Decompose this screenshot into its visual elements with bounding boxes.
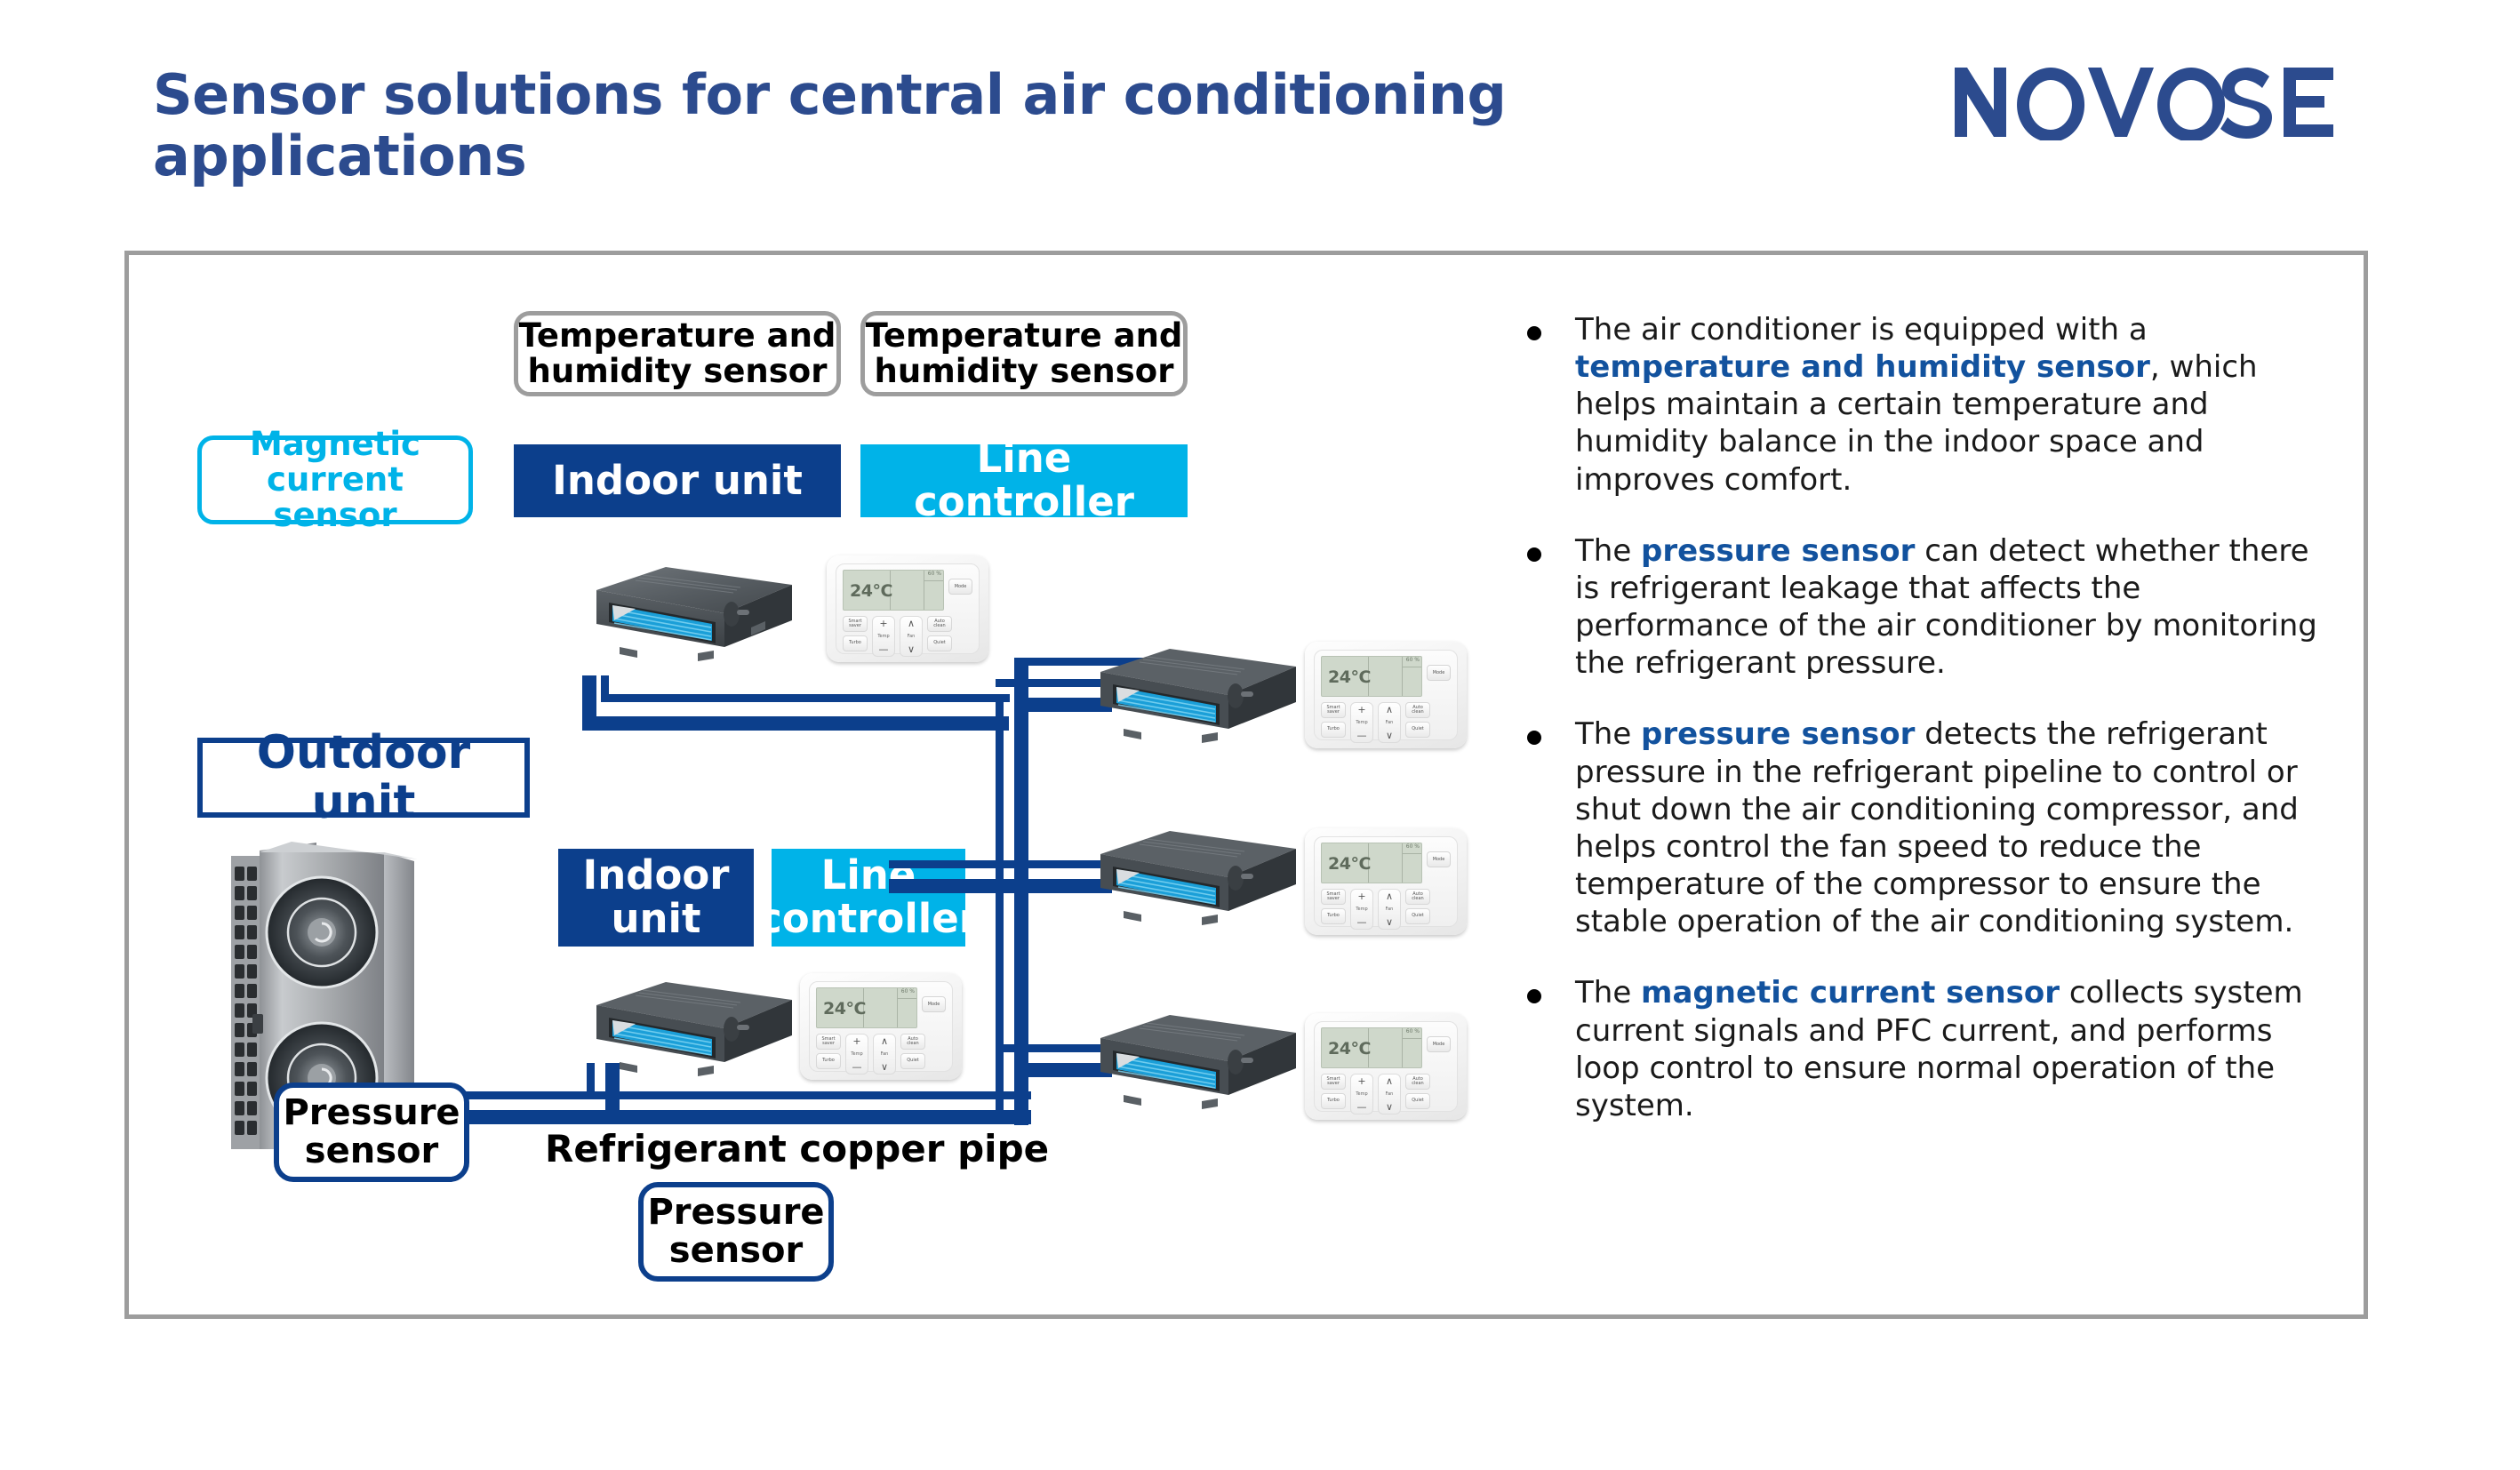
label-text: Temperature and humidity sensor xyxy=(865,318,1183,389)
fan-stepper[interactable]: ∧ Fan ∨ xyxy=(1378,702,1401,743)
page-title: Sensor solutions for central air conditi… xyxy=(153,64,1540,188)
list-item: The air conditioner is equipped with a t… xyxy=(1527,311,2327,499)
bullet-text: The magnetic current sensor collects sys… xyxy=(1575,974,2327,1124)
line-controller-device[interactable]: 24°C 60 % Mode Smart saver Turbo + Temp … xyxy=(1305,1013,1467,1120)
quiet-button[interactable]: Quiet xyxy=(1405,722,1430,738)
controller-temperature: 24°C xyxy=(1328,1039,1371,1059)
temp-up-icon[interactable]: + xyxy=(1357,705,1365,715)
temp-label: Temp xyxy=(1356,907,1367,912)
chevron-up-icon[interactable]: ∧ xyxy=(908,619,915,628)
smart-saver-button[interactable]: Smart saver xyxy=(1321,702,1346,718)
quiet-button[interactable]: Quiet xyxy=(900,1053,925,1069)
label-temp-humidity-sensor-2: Temperature and humidity sensor xyxy=(860,311,1188,396)
fan-label: Fan xyxy=(881,1051,889,1057)
controller-lcd: 24°C 60 % xyxy=(1321,843,1422,883)
bullet-text: The pressure sensor can detect whether t… xyxy=(1575,532,2327,683)
novosense-wordmark-icon xyxy=(1953,64,2371,140)
fan-stepper[interactable]: ∧ Fan ∨ xyxy=(1378,889,1401,930)
label-text: Indoor unit xyxy=(558,854,754,940)
pipe-segment xyxy=(601,675,609,699)
temp-label: Temp xyxy=(1356,720,1367,725)
chevron-down-icon[interactable]: ∨ xyxy=(908,644,915,654)
label-pressure-sensor-left: Pressure sensor xyxy=(274,1083,469,1182)
controller-humidity: 60 % xyxy=(901,988,915,995)
temp-stepper[interactable]: + Temp — xyxy=(872,616,895,657)
smart-saver-button[interactable]: Smart saver xyxy=(843,616,868,632)
label-indoor-unit-top: Indoor unit xyxy=(514,444,841,517)
chevron-up-icon[interactable]: ∧ xyxy=(1386,705,1393,715)
list-item: The pressure sensor can detect whether t… xyxy=(1527,532,2327,683)
list-item: The pressure sensor detects the refriger… xyxy=(1527,715,2327,940)
temp-stepper[interactable]: + Temp — xyxy=(1350,702,1373,743)
pipe-segment xyxy=(582,716,1009,731)
auto-clean-button[interactable]: Auto clean xyxy=(1405,702,1430,718)
label-magnetic-current-sensor: Magnetic current sensor xyxy=(197,435,473,524)
chevron-up-icon[interactable]: ∧ xyxy=(1386,1076,1393,1086)
indoor-unit-graphic xyxy=(573,558,796,663)
fan-label: Fan xyxy=(908,634,916,639)
indoor-unit-graphic xyxy=(1077,640,1300,745)
auto-clean-button[interactable]: Auto clean xyxy=(927,616,952,632)
list-item: The magnetic current sensor collects sys… xyxy=(1527,974,2327,1124)
temp-label: Temp xyxy=(851,1051,862,1057)
controller-temperature: 24°C xyxy=(850,581,892,601)
label-pressure-sensor-bottom: Pressure sensor xyxy=(638,1182,834,1282)
label-text: Refrigerant copper pipe xyxy=(545,1127,1049,1170)
line-controller-device[interactable]: 24°C 60 % Mode Smart saver Turbo + Temp … xyxy=(827,555,988,662)
temp-down-icon[interactable]: — xyxy=(879,644,889,654)
label-text: Outdoor unit xyxy=(203,728,524,827)
mode-button[interactable]: Mode xyxy=(1427,1036,1451,1052)
temp-label: Temp xyxy=(1356,1091,1367,1097)
pipe-segment xyxy=(601,694,1010,702)
indoor-unit-graphic xyxy=(1077,1006,1300,1111)
temp-stepper[interactable]: + Temp — xyxy=(1350,889,1373,930)
quiet-button[interactable]: Quiet xyxy=(1405,1093,1430,1109)
auto-clean-button[interactable]: Auto clean xyxy=(1405,889,1430,905)
chevron-up-icon[interactable]: ∧ xyxy=(881,1036,888,1046)
temp-stepper[interactable]: + Temp — xyxy=(1350,1074,1373,1114)
pipe-segment xyxy=(462,1110,1031,1124)
temp-down-icon[interactable]: — xyxy=(1357,1102,1367,1112)
chevron-down-icon[interactable]: ∨ xyxy=(1386,1102,1393,1112)
pipe-segment xyxy=(462,1091,1031,1099)
bullet-dot-icon xyxy=(1527,731,1541,745)
line-controller-device[interactable]: 24°C 60 % Mode Smart saver Turbo + Temp … xyxy=(1305,828,1467,935)
smart-saver-button[interactable]: Smart saver xyxy=(1321,1074,1346,1090)
controller-lcd: 24°C 60 % xyxy=(1321,656,1422,697)
controller-lcd: 24°C 60 % xyxy=(816,987,917,1028)
controller-humidity: 60 % xyxy=(1406,843,1420,850)
mode-button[interactable]: Mode xyxy=(1427,851,1451,867)
indoor-unit-graphic xyxy=(1077,822,1300,927)
controller-humidity: 60 % xyxy=(1406,1028,1420,1035)
fan-label: Fan xyxy=(1386,720,1394,725)
controller-lcd: 24°C 60 % xyxy=(1321,1027,1422,1068)
turbo-button[interactable]: Turbo xyxy=(843,635,868,651)
controller-temperature: 24°C xyxy=(823,999,866,1019)
mode-button[interactable]: Mode xyxy=(1427,665,1451,681)
controller-lcd: 24°C 60 % xyxy=(843,570,944,611)
temp-down-icon[interactable]: — xyxy=(1357,917,1367,927)
label-text: Magnetic current sensor xyxy=(202,427,468,533)
auto-clean-button[interactable]: Auto clean xyxy=(1405,1074,1430,1090)
temp-up-icon[interactable]: + xyxy=(879,619,887,628)
turbo-button[interactable]: Turbo xyxy=(1321,1093,1346,1109)
novosense-logo: NOVOSENSE xyxy=(1953,64,2371,140)
pipe-branch xyxy=(889,860,1004,868)
fan-stepper[interactable]: ∧ Fan ∨ xyxy=(873,1034,896,1075)
label-text: Line controller xyxy=(860,437,1188,523)
fan-stepper[interactable]: ∧ Fan ∨ xyxy=(900,616,923,657)
turbo-button[interactable]: Turbo xyxy=(816,1053,841,1069)
turbo-button[interactable]: Turbo xyxy=(1321,722,1346,738)
temp-down-icon[interactable]: — xyxy=(852,1062,862,1072)
line-controller-device[interactable]: 24°C 60 % Mode Smart saver Turbo + Temp … xyxy=(1305,642,1467,748)
chevron-down-icon[interactable]: ∨ xyxy=(1386,731,1393,740)
label-temp-humidity-sensor-1: Temperature and humidity sensor xyxy=(514,311,841,396)
temp-stepper[interactable]: + Temp — xyxy=(845,1034,868,1075)
bullet-text: The air conditioner is equipped with a t… xyxy=(1575,311,2327,499)
temp-down-icon[interactable]: — xyxy=(1357,731,1367,740)
mode-button[interactable]: Mode xyxy=(948,579,972,595)
line-controller-device[interactable]: 24°C 60 % Mode Smart saver Turbo + Temp … xyxy=(800,973,962,1080)
controller-humidity: 60 % xyxy=(928,571,941,577)
label-text: Temperature and humidity sensor xyxy=(518,318,836,389)
fan-stepper[interactable]: ∧ Fan ∨ xyxy=(1378,1074,1401,1114)
controller-temperature: 24°C xyxy=(1328,667,1371,687)
label-line-controller-top: Line controller xyxy=(860,444,1188,517)
bullet-dot-icon xyxy=(1527,326,1541,340)
label-refrigerant-copper-pipe: Refrigerant copper pipe xyxy=(545,1127,1049,1170)
bullet-dot-icon xyxy=(1527,547,1541,562)
smart-saver-button[interactable]: Smart saver xyxy=(816,1034,841,1050)
auto-clean-button[interactable]: Auto clean xyxy=(900,1034,925,1050)
bullet-text: The pressure sensor detects the refriger… xyxy=(1575,715,2327,940)
temp-up-icon[interactable]: + xyxy=(852,1036,860,1046)
controller-humidity: 60 % xyxy=(1406,657,1420,663)
indoor-unit-graphic xyxy=(573,973,796,1078)
label-text: Pressure sensor xyxy=(279,1094,464,1170)
controller-temperature: 24°C xyxy=(1328,854,1371,874)
label-text: Pressure sensor xyxy=(644,1194,828,1270)
fan-label: Fan xyxy=(1386,1091,1394,1097)
quiet-button[interactable]: Quiet xyxy=(1405,908,1430,924)
chevron-down-icon[interactable]: ∨ xyxy=(881,1062,888,1072)
temp-up-icon[interactable]: + xyxy=(1357,891,1365,901)
temp-up-icon[interactable]: + xyxy=(1357,1076,1365,1086)
turbo-button[interactable]: Turbo xyxy=(1321,908,1346,924)
label-outdoor-unit: Outdoor unit xyxy=(197,738,530,818)
label-text: Indoor unit xyxy=(552,459,803,503)
chevron-down-icon[interactable]: ∨ xyxy=(1386,917,1393,927)
label-indoor-unit-mid: Indoor unit xyxy=(558,849,754,947)
pipe-branch xyxy=(889,879,1019,893)
smart-saver-button[interactable]: Smart saver xyxy=(1321,889,1346,905)
mode-button[interactable]: Mode xyxy=(922,996,946,1012)
temp-label: Temp xyxy=(877,634,889,639)
chevron-up-icon[interactable]: ∧ xyxy=(1386,891,1393,901)
quiet-button[interactable]: Quiet xyxy=(927,635,952,651)
fan-label: Fan xyxy=(1386,907,1394,912)
bullet-dot-icon xyxy=(1527,989,1541,1003)
description-list: The air conditioner is equipped with a t… xyxy=(1527,311,2327,1158)
